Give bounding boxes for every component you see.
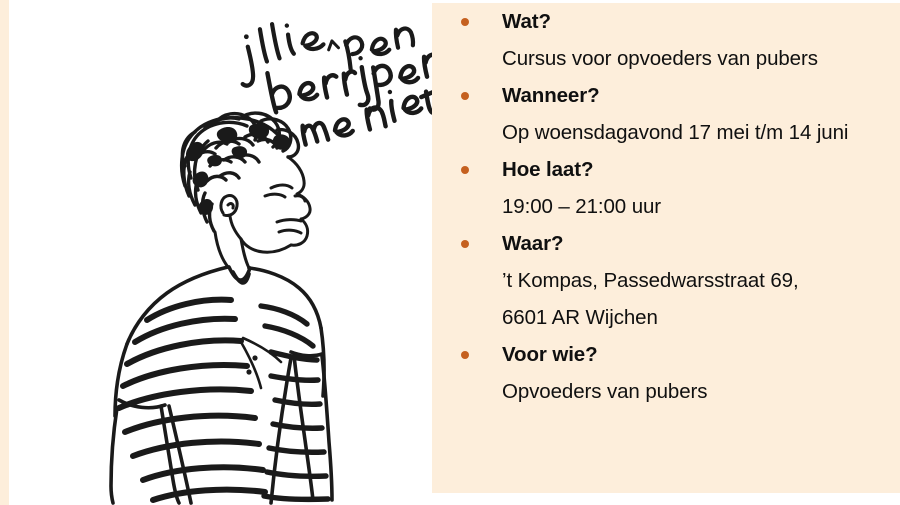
- info-answer-row: 6601 AR Wijchen: [432, 299, 900, 336]
- info-answer-row: Cursus voor opvoeders van pubers: [432, 40, 900, 77]
- info-answer-label: 19:00 – 21:00 uur: [502, 195, 661, 218]
- info-question-row: Wat?: [432, 3, 900, 40]
- info-answer-label: ’t Kompas, Passedwarsstraat 69,: [502, 269, 799, 292]
- info-answer-label: Op woensdagavond 17 mei t/m 14 juni: [502, 121, 848, 144]
- info-question-row: Voor wie?: [432, 336, 900, 373]
- info-answer-row: ’t Kompas, Passedwarsstraat 69,: [432, 262, 900, 299]
- illustration-panel: [9, 0, 432, 505]
- bullet-dot-icon: [461, 92, 469, 100]
- info-panel: Wat?Cursus voor opvoeders van pubersWann…: [432, 3, 900, 493]
- info-question-label: Wanneer?: [502, 84, 600, 107]
- info-question-row: Hoe laat?: [432, 151, 900, 188]
- info-answer-row: 19:00 – 21:00 uur: [432, 188, 900, 225]
- course-info-list: Wat?Cursus voor opvoeders van pubersWann…: [432, 3, 900, 410]
- info-question-label: Hoe laat?: [502, 158, 593, 181]
- info-question-label: Wat?: [502, 10, 551, 33]
- bullet-dot-icon: [461, 351, 469, 359]
- teenager-sketch-illustration: [9, 0, 432, 505]
- info-answer-label: Cursus voor opvoeders van pubers: [502, 47, 818, 70]
- bullet-dot-icon: [461, 240, 469, 248]
- info-answer-row: Op woensdagavond 17 mei t/m 14 juni: [432, 114, 900, 151]
- info-answer-label: 6601 AR Wijchen: [502, 306, 658, 329]
- info-question-label: Voor wie?: [502, 343, 598, 366]
- bullet-dot-icon: [461, 18, 469, 26]
- bullet-dot-icon: [461, 166, 469, 174]
- info-question-row: Wanneer?: [432, 77, 900, 114]
- info-answer-label: Opvoeders van pubers: [502, 380, 707, 403]
- info-question-row: Waar?: [432, 225, 900, 262]
- info-question-label: Waar?: [502, 232, 563, 255]
- info-answer-row: Opvoeders van pubers: [432, 373, 900, 410]
- left-edge-accent-strip: [0, 0, 9, 505]
- slide-canvas: Wat?Cursus voor opvoeders van pubersWann…: [0, 0, 900, 505]
